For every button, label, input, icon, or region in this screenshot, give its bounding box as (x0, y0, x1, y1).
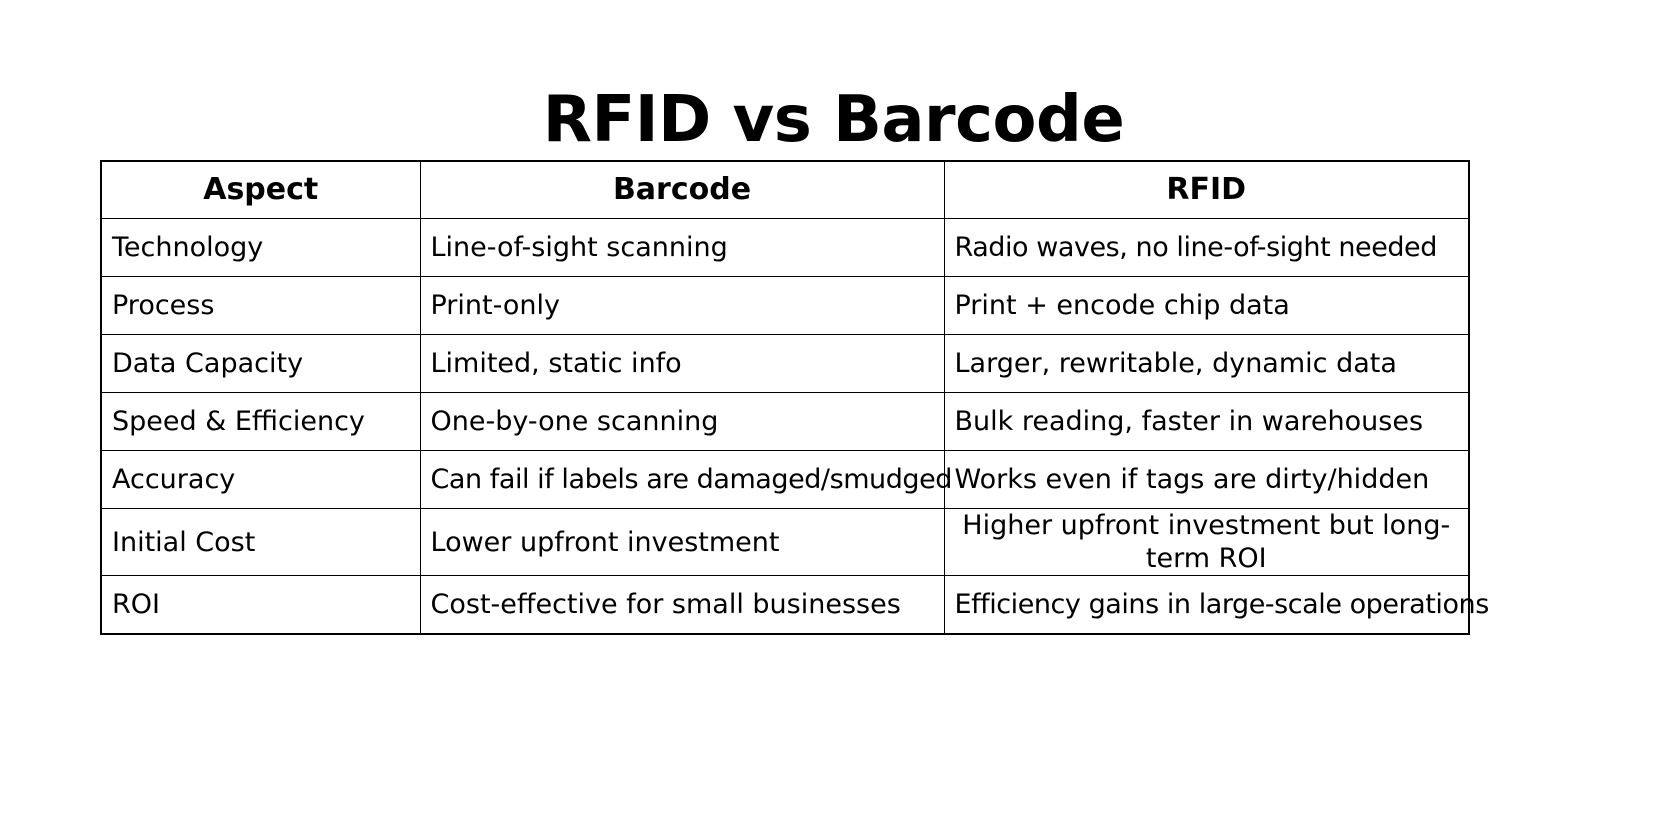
cell-aspect-text: Accuracy (102, 464, 420, 495)
table-header: Aspect Barcode RFID (101, 161, 1469, 219)
table-row: Accuracy Can fail if labels are damaged/… (101, 451, 1469, 509)
table-row: Technology Line-of-sight scanning Radio … (101, 219, 1469, 277)
cell-barcode: Line-of-sight scanning (420, 219, 944, 277)
slide-canvas: RFID vs Barcode Aspect Barcode RFID Tech… (0, 0, 1667, 834)
cell-rfid: Radio waves, no line-of-sight needed (944, 219, 1469, 277)
cell-rfid-text: Print + encode chip data (945, 290, 1469, 321)
cell-aspect: Initial Cost (101, 509, 420, 576)
cell-rfid: Print + encode chip data (944, 277, 1469, 335)
cell-aspect: Accuracy (101, 451, 420, 509)
cell-rfid: Efficiency gains in large-scale operatio… (944, 576, 1469, 635)
table-row: Process Print-only Print + encode chip d… (101, 277, 1469, 335)
cell-rfid-text: Efficiency gains in large-scale operatio… (945, 589, 1469, 620)
cell-rfid: Works even if tags are dirty/hidden (944, 451, 1469, 509)
cell-aspect: Process (101, 277, 420, 335)
table-body: Technology Line-of-sight scanning Radio … (101, 219, 1469, 635)
cell-barcode-text: Print-only (421, 290, 944, 321)
cell-aspect-text: Technology (102, 232, 420, 263)
page-title: RFID vs Barcode (0, 81, 1667, 159)
cell-rfid: Higher upfront investment but long-term … (944, 509, 1469, 576)
column-header-rfid: RFID (944, 161, 1469, 219)
cell-barcode: Lower upfront investment (420, 509, 944, 576)
table-row: Speed & Efficiency One-by-one scanning B… (101, 393, 1469, 451)
table-row: Initial Cost Lower upfront investment Hi… (101, 509, 1469, 576)
cell-aspect-text: ROI (102, 589, 420, 620)
cell-barcode: Cost-effective for small businesses (420, 576, 944, 635)
table-header-row: Aspect Barcode RFID (101, 161, 1469, 219)
cell-barcode-text: One-by-one scanning (421, 406, 944, 437)
cell-barcode-text: Limited, static info (421, 348, 944, 379)
cell-aspect: Data Capacity (101, 335, 420, 393)
cell-aspect: Technology (101, 219, 420, 277)
cell-aspect-text: Data Capacity (102, 348, 420, 379)
cell-barcode: One-by-one scanning (420, 393, 944, 451)
cell-aspect: Speed & Efficiency (101, 393, 420, 451)
cell-aspect-text: Initial Cost (102, 527, 420, 558)
cell-barcode-text: Line-of-sight scanning (421, 232, 944, 263)
cell-aspect-text: Speed & Efficiency (102, 406, 420, 437)
cell-barcode: Limited, static info (420, 335, 944, 393)
cell-rfid-text: Works even if tags are dirty/hidden (945, 464, 1469, 495)
cell-barcode-text: Lower upfront investment (421, 527, 944, 558)
comparison-table-container: Aspect Barcode RFID Technology Line-of-s… (100, 160, 1468, 635)
table-row: Data Capacity Limited, static info Large… (101, 335, 1469, 393)
cell-rfid: Larger, rewritable, dynamic data (944, 335, 1469, 393)
cell-rfid-text: Higher upfront investment but long-term … (945, 509, 1469, 575)
cell-aspect: ROI (101, 576, 420, 635)
cell-rfid-text: Larger, rewritable, dynamic data (945, 348, 1469, 379)
cell-rfid: Bulk reading, faster in warehouses (944, 393, 1469, 451)
comparison-table: Aspect Barcode RFID Technology Line-of-s… (100, 160, 1470, 635)
cell-aspect-text: Process (102, 290, 420, 321)
column-header-aspect: Aspect (101, 161, 420, 219)
column-header-barcode: Barcode (420, 161, 944, 219)
cell-barcode-text: Cost-effective for small businesses (421, 589, 944, 620)
cell-barcode: Print-only (420, 277, 944, 335)
cell-barcode: Can fail if labels are damaged/smudged (420, 451, 944, 509)
cell-barcode-text: Can fail if labels are damaged/smudged (421, 464, 944, 495)
table-row: ROI Cost-effective for small businesses … (101, 576, 1469, 635)
cell-rfid-text: Radio waves, no line-of-sight needed (945, 232, 1469, 263)
cell-rfid-text: Bulk reading, faster in warehouses (945, 406, 1469, 437)
